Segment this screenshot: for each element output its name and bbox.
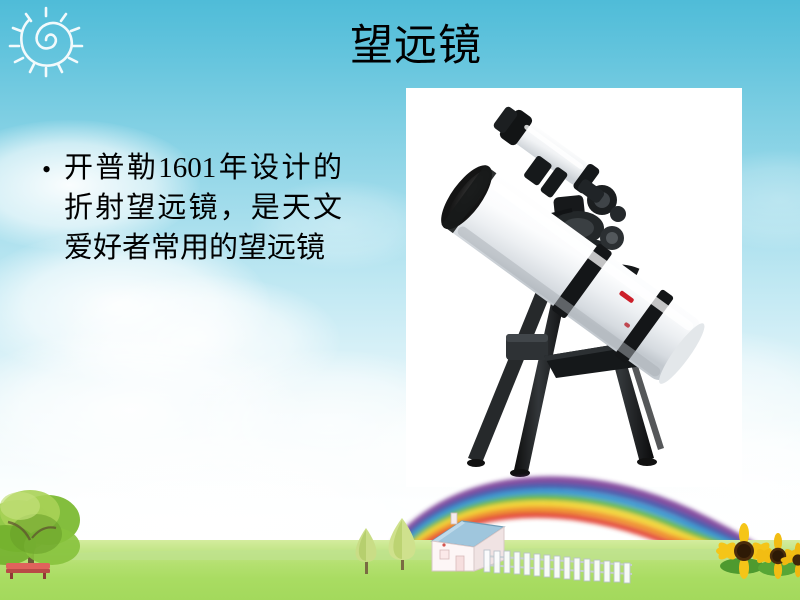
grass-ground bbox=[0, 540, 800, 600]
body-bullet-list: • 开普勒1601年设计的折射望远镜，是天文爱好者常用的望远镜 bbox=[42, 148, 342, 268]
bullet-text: 开普勒1601年设计的折射望远镜，是天文爱好者常用的望远镜 bbox=[64, 148, 342, 268]
bullet-marker: • bbox=[42, 148, 64, 192]
sun-spiral-icon bbox=[4, 2, 88, 78]
cloud-icon bbox=[0, 330, 300, 490]
presentation-slide: 望远镜 • 开普勒1601年设计的折射望远镜，是天文爱好者常用的望远镜 bbox=[0, 0, 800, 600]
slide-title: 望远镜 bbox=[236, 24, 596, 70]
telescope-image bbox=[406, 88, 742, 487]
telescope-illustration bbox=[406, 88, 742, 487]
cloud-icon bbox=[60, 275, 340, 405]
